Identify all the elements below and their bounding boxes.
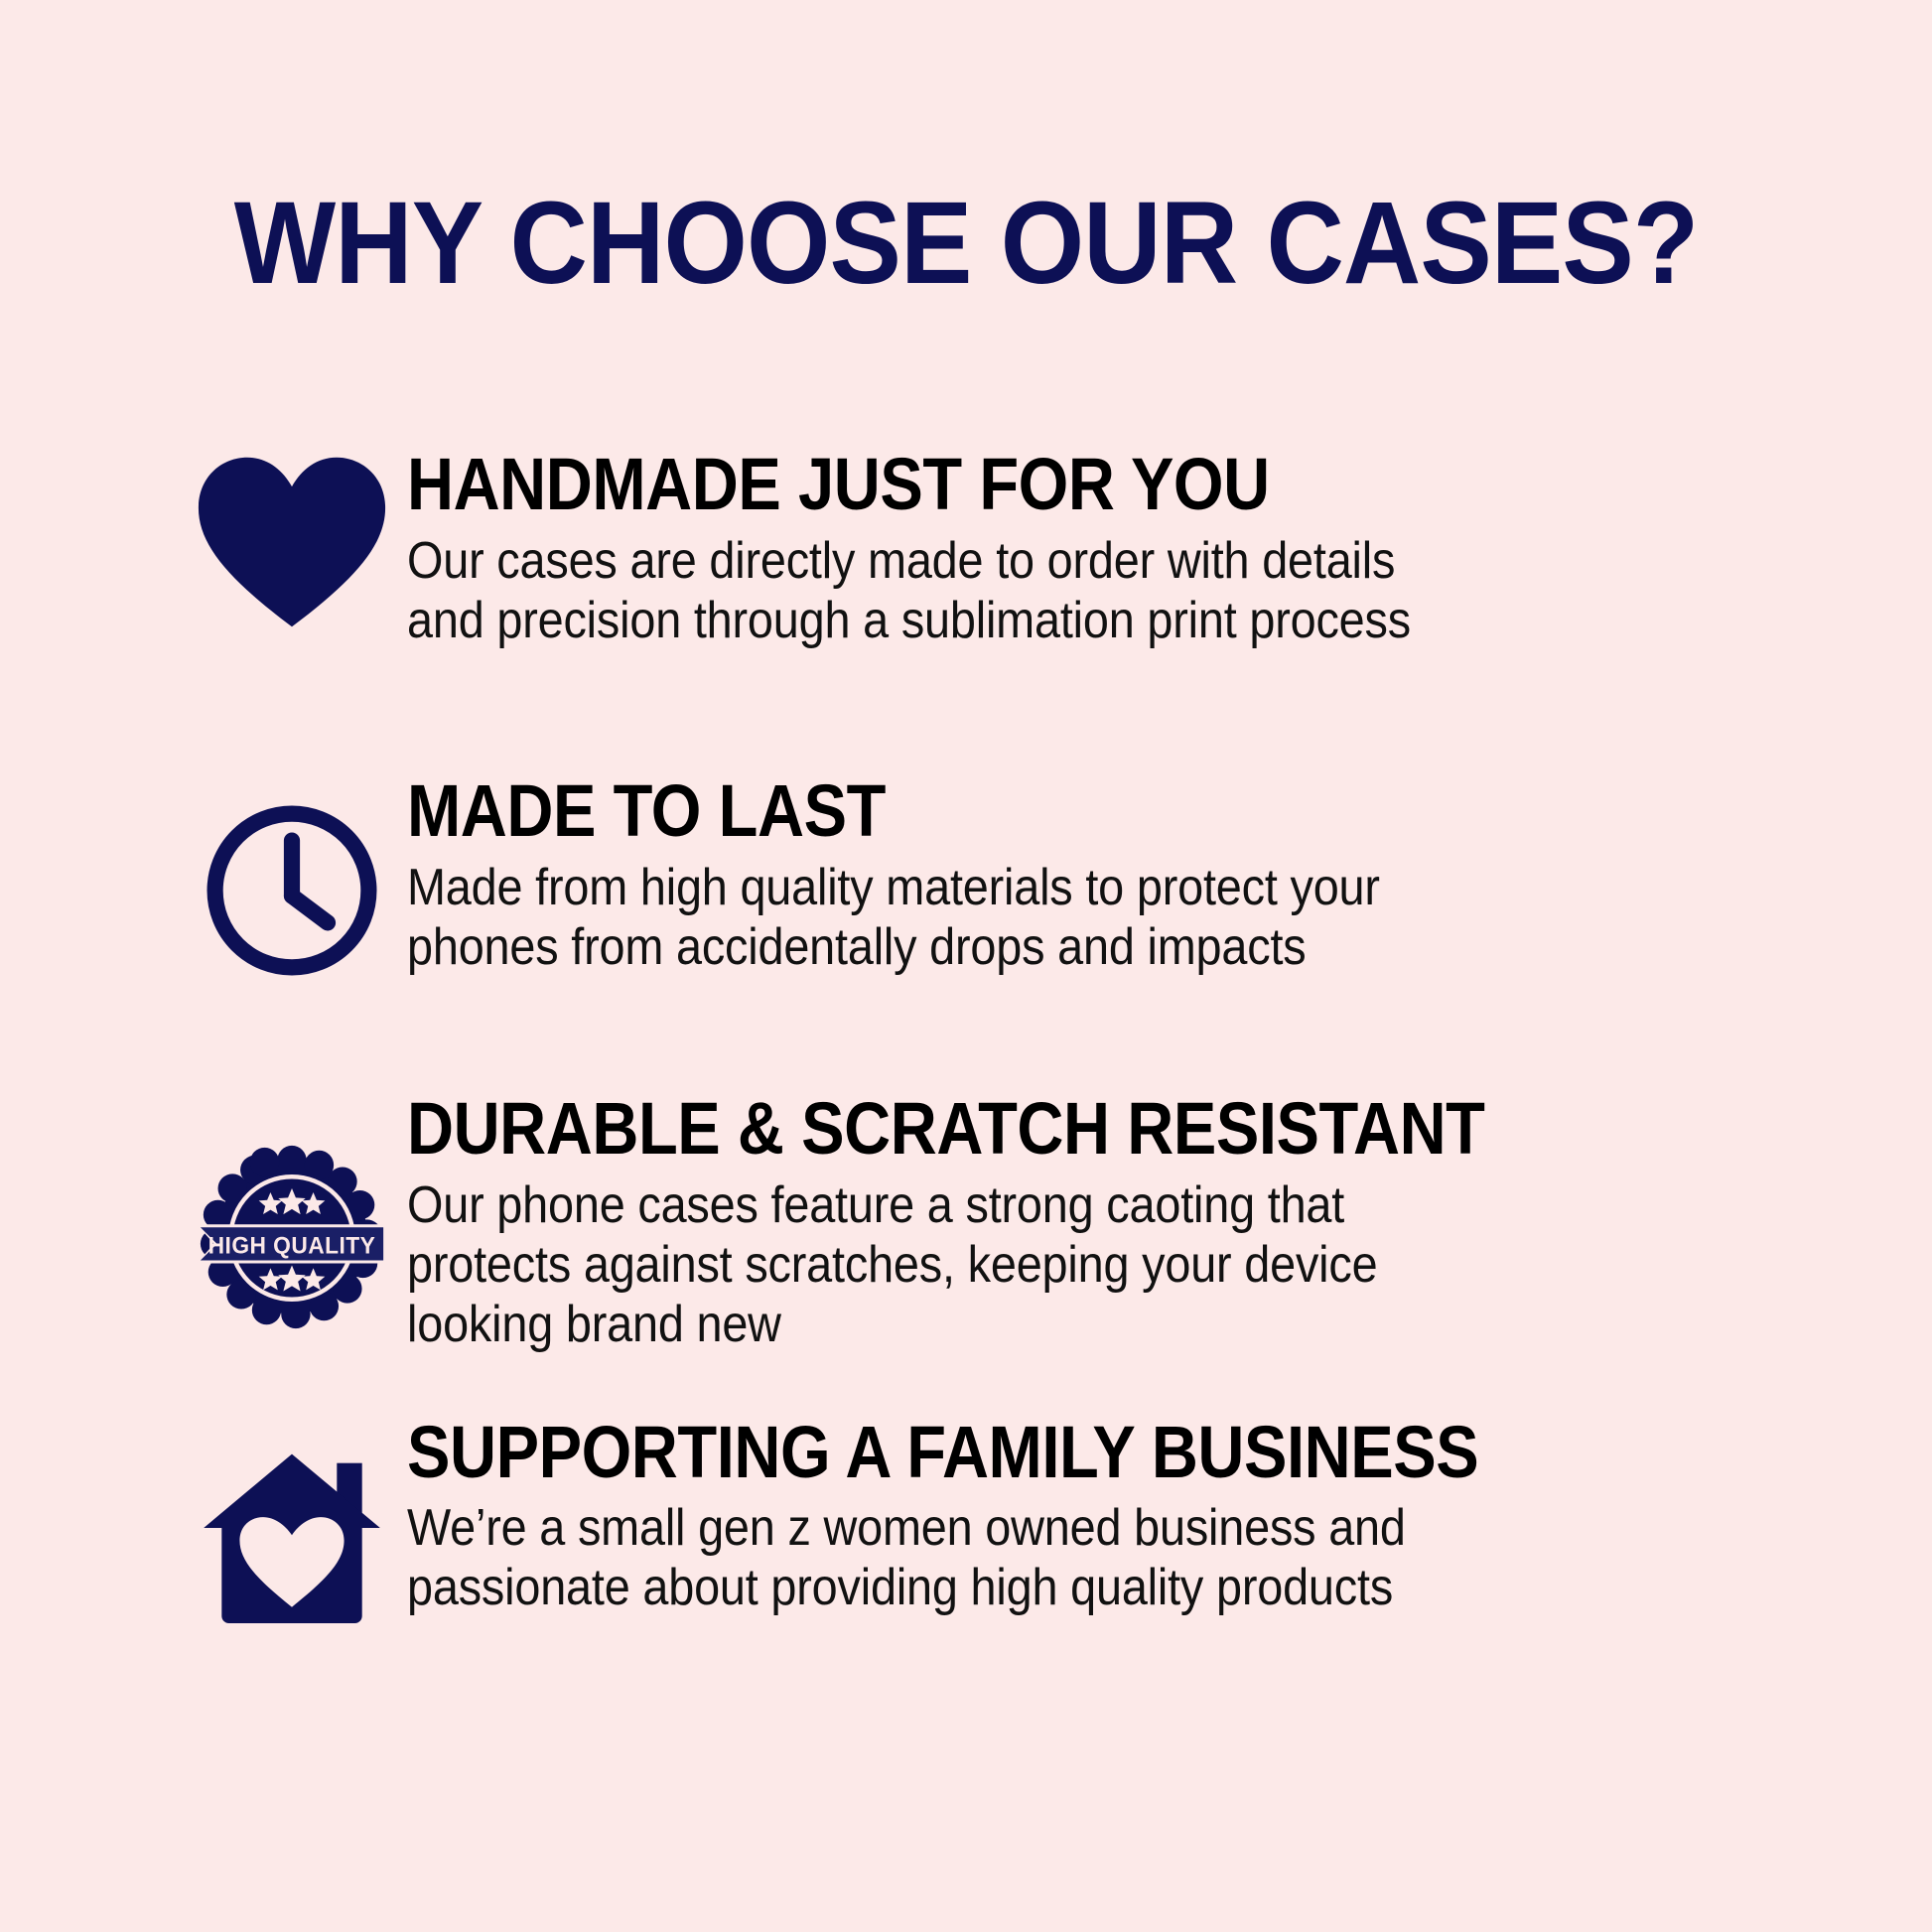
feature-icon-slot — [195, 447, 389, 631]
feature-title: HANDMADE JUST FOR YOU — [407, 449, 1749, 521]
feature-icon-slot — [195, 1415, 389, 1623]
feature-title: DURABLE & SCRATCH RESISTANT — [407, 1093, 1749, 1166]
feature-item-durable: HIGH QUALITY DURABLE & SCRATCH RESISTANT… — [0, 1091, 1932, 1354]
heart-icon — [195, 455, 389, 631]
why-choose-our-cases-poster: WHY CHOOSE OUR CASES? HANDMADE JUST FOR … — [0, 0, 1932, 1932]
feature-description: Made from high quality materials to prot… — [407, 858, 1779, 978]
feature-icon-slot — [195, 773, 389, 980]
feature-item-handmade: HANDMADE JUST FOR YOU Our cases are dire… — [0, 447, 1932, 650]
feature-list: HANDMADE JUST FOR YOU Our cases are dire… — [0, 447, 1932, 1623]
feature-text: DURABLE & SCRATCH RESISTANT Our phone ca… — [389, 1091, 1932, 1354]
feature-text: SUPPORTING A FAMILY BUSINESS We’re a sma… — [389, 1415, 1932, 1618]
high-quality-badge-icon: HIGH QUALITY — [195, 1139, 389, 1337]
page-title: WHY CHOOSE OUR CASES? — [77, 185, 1855, 302]
feature-item-family-business: SUPPORTING A FAMILY BUSINESS We’re a sma… — [0, 1415, 1932, 1623]
feature-description: We’re a small gen z women owned business… — [407, 1498, 1779, 1618]
feature-description: Our phone cases feature a strong caoting… — [407, 1175, 1779, 1355]
house-heart-icon — [202, 1450, 382, 1623]
clock-icon — [203, 801, 381, 980]
feature-icon-slot: HIGH QUALITY — [195, 1091, 389, 1337]
feature-title: SUPPORTING A FAMILY BUSINESS — [407, 1417, 1749, 1489]
feature-text: MADE TO LAST Made from high quality mate… — [389, 773, 1932, 977]
feature-title: MADE TO LAST — [407, 775, 1749, 848]
badge-label: HIGH QUALITY — [208, 1233, 376, 1260]
feature-description: Our cases are directly made to order wit… — [407, 531, 1779, 651]
feature-item-made-to-last: MADE TO LAST Made from high quality mate… — [0, 773, 1932, 980]
feature-text: HANDMADE JUST FOR YOU Our cases are dire… — [389, 447, 1932, 650]
